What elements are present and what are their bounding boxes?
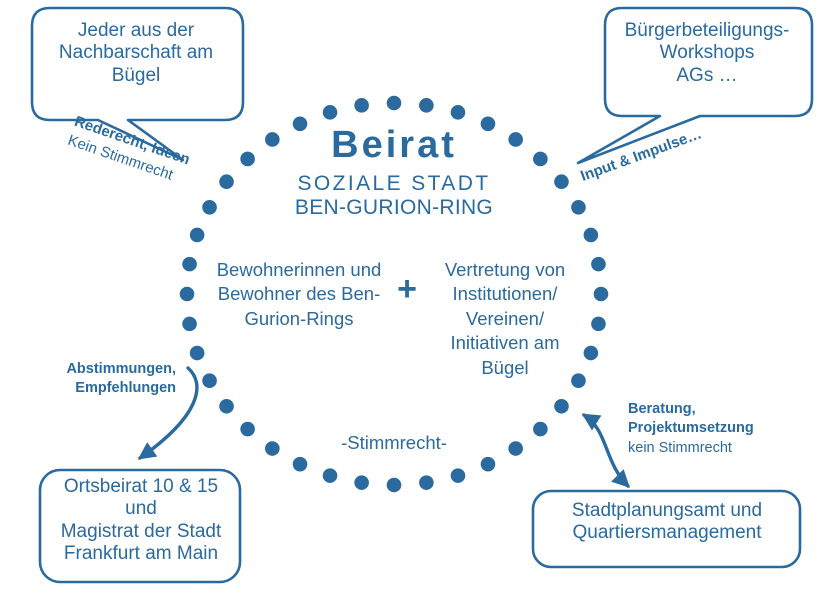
ring-dot bbox=[190, 346, 205, 361]
arrow-stadtplanungsamt-double bbox=[584, 415, 628, 486]
ring-dot bbox=[354, 98, 369, 113]
ring-dot bbox=[323, 105, 338, 120]
center-members-row: Bewohnerinnen und Bewohner des Ben-Gurio… bbox=[214, 258, 580, 380]
member-group-residents: Bewohnerinnen und Bewohner des Ben-Gurio… bbox=[214, 258, 384, 331]
member-group-institutions: Vertretung von Institutionen/ Vereinen/ … bbox=[430, 258, 580, 380]
ring-dot bbox=[240, 422, 255, 437]
ring-dot bbox=[554, 174, 569, 189]
ring-dot bbox=[182, 257, 197, 272]
ring-dot bbox=[182, 317, 197, 332]
label-beratung-projektumsetzung: Beratung, Projektumsetzung kein Stimmrec… bbox=[628, 400, 808, 458]
ring-dot bbox=[419, 475, 434, 490]
ring-dot bbox=[594, 287, 609, 302]
subtitle-ben-gurion-ring: BEN-GURION-RING bbox=[244, 196, 544, 219]
label-beratung-light: kein Stimmrecht bbox=[628, 439, 808, 458]
ring-dot bbox=[451, 468, 466, 483]
subtitle-soziale-stadt: SOZIALE STADT bbox=[244, 172, 544, 195]
ring-dot bbox=[584, 228, 599, 243]
ring-dot bbox=[202, 200, 217, 215]
ring-dot bbox=[387, 478, 402, 493]
ring-dot bbox=[180, 287, 195, 302]
ring-dot bbox=[481, 457, 496, 472]
ring-dot bbox=[451, 105, 466, 120]
ring-dot bbox=[387, 96, 402, 111]
plus-icon: + bbox=[384, 258, 430, 306]
diagram-canvas: Jeder aus der Nachbarschaft am Bügel Bür… bbox=[0, 0, 820, 600]
page-title: Beirat bbox=[244, 126, 544, 166]
voting-rights-note: -Stimmrecht- bbox=[264, 432, 524, 454]
ring-dot bbox=[571, 200, 586, 215]
ring-dot bbox=[293, 457, 308, 472]
speech-bubble-top-left-text: Jeder aus der Nachbarschaft am Bügel bbox=[36, 20, 236, 87]
box-bottom-left-text: Ortsbeirat 10 & 15 und Magistrat der Sta… bbox=[44, 476, 238, 566]
ring-dot bbox=[190, 228, 205, 243]
box-bottom-right-text: Stadtplanungsamt und Quartiersmanagement bbox=[538, 500, 796, 545]
ring-dot bbox=[219, 399, 234, 414]
center-title-block: Beirat SOZIALE STADT BEN-GURION-RING bbox=[244, 126, 544, 219]
ring-dot bbox=[591, 317, 606, 332]
ring-dot bbox=[323, 468, 338, 483]
ring-dot bbox=[354, 475, 369, 490]
speech-bubble-top-right-text: Bürgerbeteiligungs- Workshops AGs … bbox=[608, 20, 806, 87]
label-abstimmungen-empfehlungen: Abstimmungen, Empfehlungen bbox=[30, 360, 176, 399]
ring-dot bbox=[554, 399, 569, 414]
ring-dot bbox=[419, 98, 434, 113]
ring-dot bbox=[591, 257, 606, 272]
ring-dot bbox=[533, 422, 548, 437]
ring-dot bbox=[584, 346, 599, 361]
label-beratung-strong: Beratung, Projektumsetzung bbox=[628, 400, 808, 439]
